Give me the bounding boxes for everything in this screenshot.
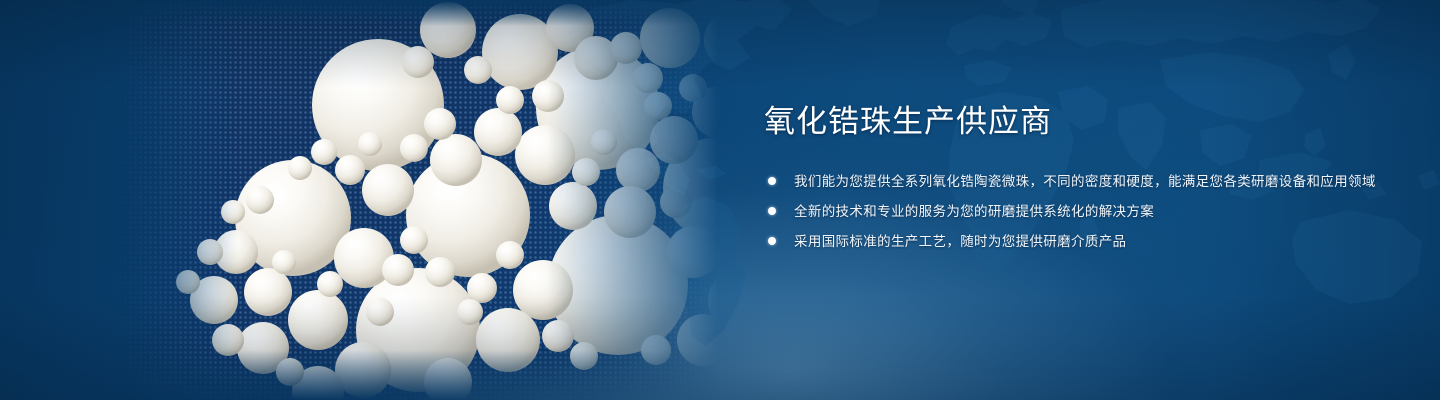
feature-text: 全新的技术和专业的服务为您的研磨提供系统化的解决方案: [794, 201, 1384, 222]
feature-text: 我们能为您提供全系列氧化锆陶瓷微珠，不同的密度和硬度，能满足您各类研磨设备和应用…: [794, 171, 1384, 192]
feature-list-item: 采用国际标准的生产工艺，随时为您提供研磨介质产品: [764, 231, 1384, 252]
bullet-dot-icon: [768, 237, 776, 245]
feature-list-item: 全新的技术和专业的服务为您的研磨提供系统化的解决方案: [764, 201, 1384, 222]
zirconia-beads-photo: [118, 0, 758, 400]
bullet-dot-icon: [768, 207, 776, 215]
hero-banner: 氧化锆珠生产供应商 我们能为您提供全系列氧化锆陶瓷微珠，不同的密度和硬度，能满足…: [0, 0, 1440, 400]
bullet-dot-icon: [768, 177, 776, 185]
feature-text: 采用国际标准的生产工艺，随时为您提供研磨介质产品: [794, 231, 1384, 252]
feature-list-item: 我们能为您提供全系列氧化锆陶瓷微珠，不同的密度和硬度，能满足您各类研磨设备和应用…: [764, 171, 1384, 192]
banner-headline: 氧化锆珠生产供应商: [764, 104, 1384, 141]
banner-copy: 氧化锆珠生产供应商 我们能为您提供全系列氧化锆陶瓷微珠，不同的密度和硬度，能满足…: [764, 104, 1384, 252]
feature-list: 我们能为您提供全系列氧化锆陶瓷微珠，不同的密度和硬度，能满足您各类研磨设备和应用…: [764, 171, 1384, 252]
